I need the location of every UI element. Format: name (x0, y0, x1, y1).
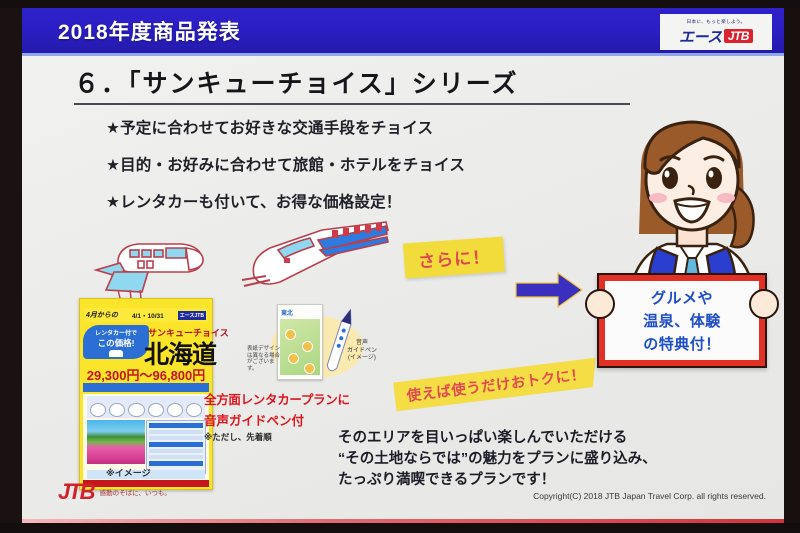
map-pin-icon (304, 363, 315, 374)
flyer-coupon-panel (146, 420, 206, 474)
promo-line-2: 音声ガイドペン付 (204, 410, 350, 429)
coupon-heading-bar (149, 442, 203, 447)
flyer-benefit-icon (128, 403, 144, 417)
header-accent-line (22, 53, 784, 56)
presentation-slide: 2018年度商品発表 日本に、もっと楽しよう。 エース JTB ６．「サンキュー… (22, 8, 784, 523)
jtb-footer-logo: JTB 感動のそばに、いつも。 (58, 479, 171, 505)
flyer-month: 4月からの (86, 310, 118, 320)
closing-paragraph: そのエリアを目いっぱい楽しんでいただける “その土地ならでは”の魅力をプランに盛… (338, 428, 778, 491)
car-icon (109, 350, 123, 357)
flyer-icon-strip (87, 396, 205, 418)
benefit-line-1: グルメや (651, 287, 713, 308)
room-edge-left (0, 0, 22, 533)
guide-pen-label-line3: (イメージ) (347, 355, 377, 363)
shinkansen-icon (240, 220, 390, 298)
guidebook-map (280, 319, 320, 375)
coupon-heading-bar (149, 461, 203, 466)
ace-logo-row: エース JTB (679, 26, 753, 47)
right-arrow-icon (514, 270, 584, 310)
flyer-benefit-icon (186, 403, 202, 417)
coupon-line (149, 455, 203, 459)
coupon-line (149, 449, 203, 453)
guidebook-title: 東北 (281, 308, 293, 317)
airplane-icon (90, 230, 220, 302)
ace-logo-badge: JTB (724, 29, 753, 43)
banner-more-text: さらに！ (418, 248, 491, 272)
guide-pen-group: 東北 音声 ガイドペン (イメージ) 表紙デザインは異な (265, 300, 369, 386)
bullet-item: ★目的・お好みに合わせて旅館・ホテルをチョイス (106, 153, 526, 175)
flyer-divider-band (83, 383, 209, 392)
image-disclaimer: ※イメージ (106, 466, 151, 479)
flyer-benefit-icon (109, 403, 125, 417)
flyer-benefit-icon (148, 403, 164, 417)
flyer-icon-row (87, 396, 205, 417)
promo-line-1: 全方面レンタカープランに (204, 389, 350, 408)
room-edge-bottom (0, 523, 800, 533)
bullet-item: ★予定に合わせてお好きな交通手段をチョイス (106, 116, 526, 138)
benefit-line-3: の特典付！ (643, 333, 721, 354)
benefit-line-2: 温泉、体験 (643, 310, 721, 331)
promo-text-block: 全方面レンタカープランに 音声ガイドペン付 ※ただし、先着順 (204, 389, 350, 443)
guidebook-side-note: 表紙デザインは異なる場合がございます。 (247, 346, 281, 372)
room-edge-right (784, 0, 800, 533)
ace-logo-tagline: 日本に、もっと楽しよう。 (687, 18, 746, 25)
flyer-scenery-photo (87, 420, 145, 464)
jtb-logo-mark: JTB (58, 479, 94, 505)
flyer-rentacar-line1: レンタカー付で (95, 328, 137, 337)
ace-logo-word: エース (679, 26, 722, 47)
guide-pen-label-line1: 音声 (347, 340, 377, 348)
map-pin-icon (288, 353, 299, 364)
brochure-flyer: 4月からの 4/1・10/31 エースJTB レンタカー付で この価格! サンキ… (79, 298, 213, 490)
section-heading: ６．「サンキューチョイス」シリーズ (74, 64, 674, 100)
flyer-rentacar-line2: この価格! (98, 337, 135, 349)
flyer-date-strip: 4月からの 4/1・10/31 エースJTB (84, 308, 208, 322)
promo-line-3: ※ただし、先着順 (204, 431, 350, 443)
guidebook-cover: 東北 (277, 304, 323, 380)
flyer-benefit-icon (167, 403, 183, 417)
bullet-item: ★レンタカーも付いて、お得な価格設定！ (106, 190, 526, 212)
room-edge-top (0, 0, 800, 8)
benefit-callout-inner: グルメや 温泉、体験 の特典付！ (605, 281, 759, 360)
section-title-text: ６．「サンキューチョイス」シリーズ (74, 64, 674, 100)
map-pin-icon (302, 341, 313, 352)
closing-line-1: そのエリアを目いっぱい楽しんでいただける (338, 428, 778, 449)
copyright-text: Copyright(C) 2018 JTB Japan Travel Corp.… (533, 491, 766, 501)
coupon-line (149, 430, 203, 434)
character-hand-right-icon (749, 289, 779, 319)
benefit-callout-box: グルメや 温泉、体験 の特典付！ (597, 273, 767, 368)
flyer-date-range: 4/1・10/31 (132, 310, 164, 320)
flyer-rentacar-bubble: レンタカー付で この価格! (83, 325, 149, 359)
banner-useful: 使えば使うだけおトクに！ (393, 358, 599, 412)
jtb-logo-slogan: 感動のそばに、いつも。 (100, 487, 171, 497)
header-title: 2018年度商品発表 (58, 16, 241, 46)
ace-jtb-logo: 日本に、もっと楽しよう。 エース JTB (660, 14, 772, 50)
map-pin-icon (285, 329, 296, 340)
bullet-list: ★予定に合わせてお好きな交通手段をチョイス ★目的・お好みに合わせて旅館・ホテル… (106, 116, 526, 227)
coupon-heading-bar (149, 423, 203, 428)
character-hand-left-icon (585, 289, 615, 319)
closing-line-3: たっぷり満喫できるプランです！ (338, 470, 778, 491)
section-underline (74, 103, 630, 105)
screenshot-root: 2018年度商品発表 日本に、もっと楽しよう。 エース JTB ６．「サンキュー… (0, 0, 800, 533)
banner-more: さらに！ (403, 237, 505, 279)
guide-pen-label: 音声 ガイドペン (イメージ) (347, 340, 377, 363)
flyer-ace-badge: エースJTB (178, 311, 206, 320)
flyer-benefit-icon (90, 403, 106, 417)
closing-line-2: “その土地ならでは”の魅力をプランに盛り込み、 (338, 449, 778, 470)
guide-pen-label-line2: ガイドペン (347, 348, 377, 356)
banner-useful-text: 使えば使うだけおトクに！ (406, 367, 587, 405)
footer-accent-line (22, 519, 784, 523)
coupon-line (149, 436, 203, 440)
flyer-price: 29,300円～96,800円 (84, 365, 208, 384)
